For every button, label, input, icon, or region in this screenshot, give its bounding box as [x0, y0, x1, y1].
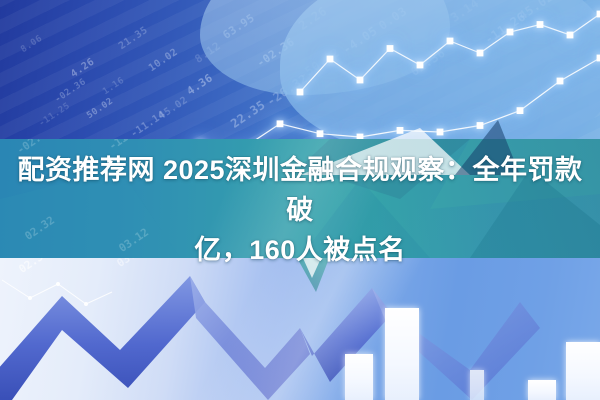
page-title: 配资推荐网 2025深圳金融合规观察：全年罚款破 亿，160人被点名 [0, 150, 600, 270]
lower-panel-shine [0, 258, 600, 400]
lower-panel: 02.32 03.12 [0, 258, 600, 400]
headline-line-2: 亿，160人被点名 [8, 230, 592, 270]
banner-image: -11.2550.02-02.361.164.26-11.1445.024.36… [0, 0, 600, 400]
headline-line-1: 配资推荐网 2025深圳金融合规观察：全年罚款破 [8, 150, 592, 230]
sky-facet-shapes [0, 0, 600, 175]
